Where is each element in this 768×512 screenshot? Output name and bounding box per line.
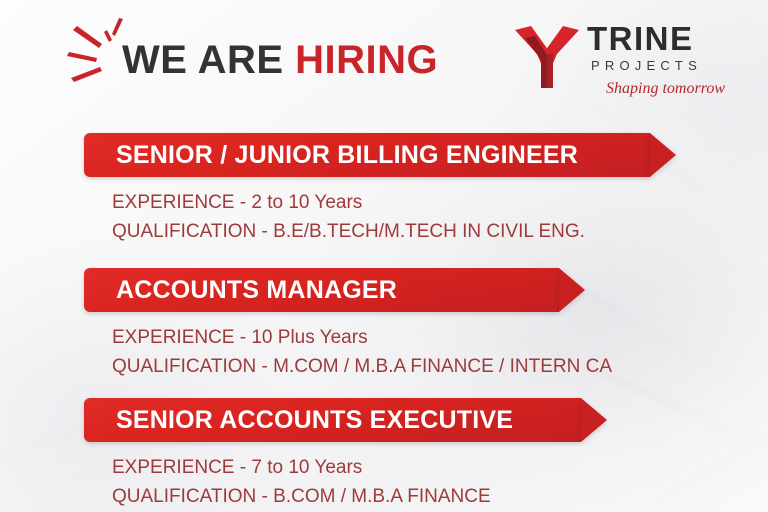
brand-logo: TRINE PROJECTS Shaping tomorrow	[513, 22, 723, 110]
job-details: EXPERIENCE - 10 Plus Years QUALIFICATION…	[112, 323, 768, 381]
job-qualification: QUALIFICATION - B.E/B.TECH/M.TECH IN CIV…	[112, 217, 768, 246]
brand-tagline: Shaping tomorrow	[585, 81, 725, 97]
trine-y-logo-icon	[513, 24, 581, 90]
headline-hiring: HIRING	[295, 38, 438, 82]
job-experience: EXPERIENCE - 7 to 10 Years	[112, 453, 768, 482]
job-title: SENIOR / JUNIOR BILLING ENGINEER	[116, 141, 578, 170]
job-details: EXPERIENCE - 7 to 10 Years QUALIFICATION…	[112, 453, 768, 511]
brand-subtitle: PROJECTS	[591, 59, 702, 72]
hiring-poster: WE ARE HIRING TRINE PROJECTS	[0, 0, 768, 512]
brand-name: TRINE	[587, 22, 694, 55]
job-title-banner: ACCOUNTS MANAGER	[84, 268, 559, 312]
job-title: ACCOUNTS MANAGER	[116, 276, 397, 305]
job-title-banner: SENIOR ACCOUNTS EXECUTIVE	[84, 398, 581, 442]
poster-header: WE ARE HIRING TRINE PROJECTS	[0, 0, 768, 120]
job-qualification: QUALIFICATION - M.COM / M.B.A FINANCE / …	[112, 352, 768, 381]
job-qualification: QUALIFICATION - B.COM / M.B.A FINANCE	[112, 482, 768, 511]
job-listing: SENIOR / JUNIOR BILLING ENGINEER EXPERIE…	[0, 133, 768, 246]
job-title: SENIOR ACCOUNTS EXECUTIVE	[116, 406, 513, 435]
headline-we-are: WE ARE	[122, 38, 295, 82]
job-experience: EXPERIENCE - 2 to 10 Years	[112, 188, 768, 217]
job-details: EXPERIENCE - 2 to 10 Years QUALIFICATION…	[112, 188, 768, 246]
page-title: WE ARE HIRING	[122, 40, 438, 80]
job-listing: SENIOR ACCOUNTS EXECUTIVE EXPERIENCE - 7…	[0, 398, 768, 511]
job-listing: ACCOUNTS MANAGER EXPERIENCE - 10 Plus Ye…	[0, 268, 768, 381]
job-experience: EXPERIENCE - 10 Plus Years	[112, 323, 768, 352]
job-title-banner: SENIOR / JUNIOR BILLING ENGINEER	[84, 133, 650, 177]
